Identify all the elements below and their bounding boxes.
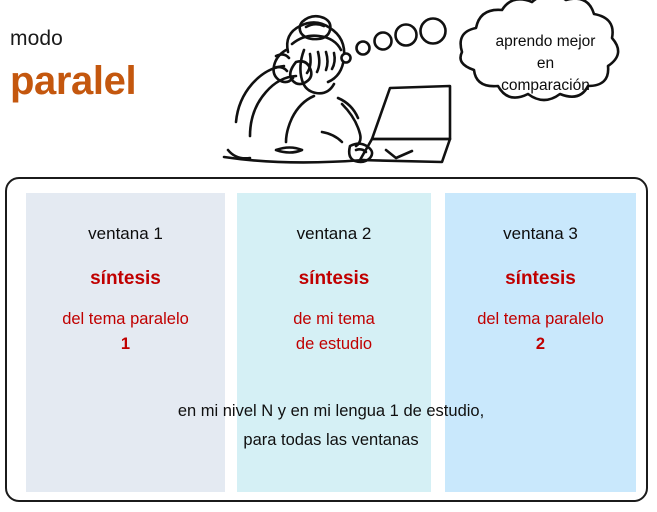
window-column-3: ventana 3 síntesis del tema paralelo 2 — [445, 193, 636, 492]
mode-value: paralel — [10, 58, 220, 104]
window-2-desc-line-1: de mi tema — [237, 307, 431, 332]
header-area: modo paralel — [0, 0, 657, 175]
thought-bubble-line-2: en — [463, 53, 628, 75]
window-3-desc-line-1: del tema paralelo — [445, 307, 636, 332]
thought-bubble-line-3: comparación — [463, 75, 628, 97]
window-3-desc-line-2: 2 — [445, 332, 636, 357]
window-1-description: del tema paralelo 1 — [26, 307, 225, 357]
window-1-desc-line-2: 1 — [26, 332, 225, 357]
window-column-1: ventana 1 síntesis del tema paralelo 1 — [26, 193, 225, 492]
mode-label: modo — [10, 26, 220, 52]
window-column-2: ventana 2 síntesis de mi tema de estudio — [237, 193, 431, 492]
windows-panel: ventana 1 síntesis del tema paralelo 1 v… — [5, 177, 648, 502]
window-3-description: del tema paralelo 2 — [445, 307, 636, 357]
window-2-desc-line-2: de estudio — [237, 332, 431, 357]
window-1-kind: síntesis — [26, 267, 225, 291]
window-1-desc-line-1: del tema paralelo — [26, 307, 225, 332]
title-block: modo paralel — [10, 26, 220, 104]
window-2-kind: síntesis — [237, 267, 431, 291]
window-2-description: de mi tema de estudio — [237, 307, 431, 357]
window-3-title: ventana 3 — [445, 223, 636, 245]
window-2-title: ventana 2 — [237, 223, 431, 245]
thought-bubble-text: aprendo mejor en comparación — [463, 31, 628, 97]
window-1-title: ventana 1 — [26, 223, 225, 245]
window-3-kind: síntesis — [445, 267, 636, 291]
thought-bubble-line-1: aprendo mejor — [463, 31, 628, 53]
